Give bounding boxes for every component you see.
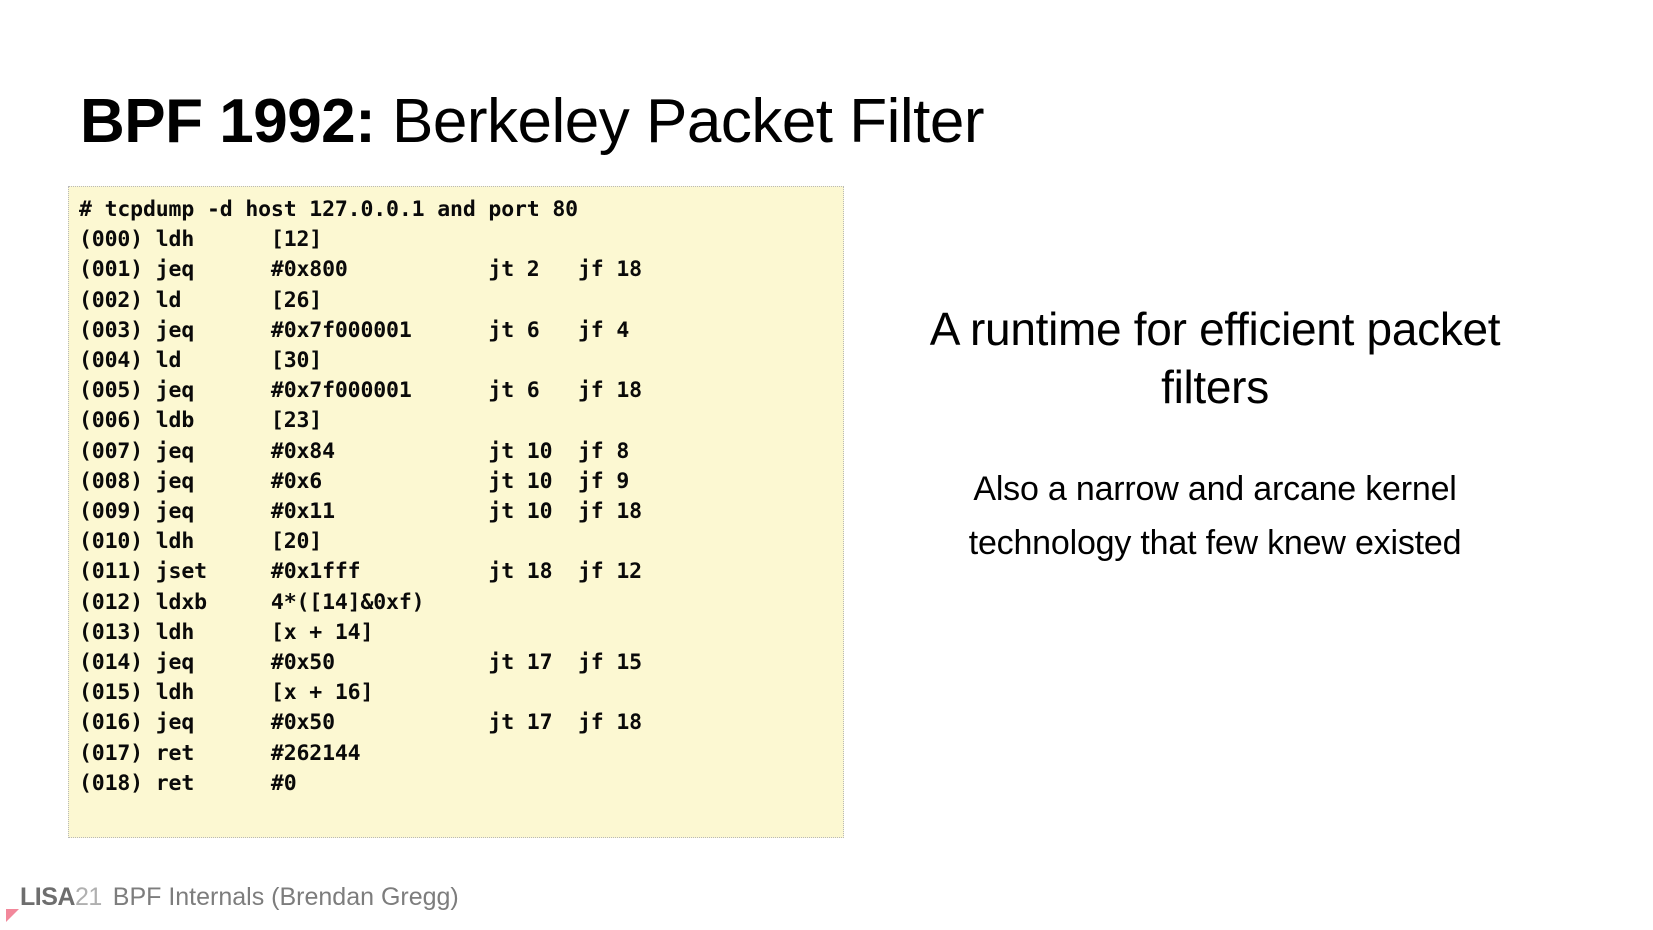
footer-subtitle: BPF Internals (Brendan Gregg) <box>113 882 459 912</box>
page-title-emphasis: BPF 1992: <box>80 87 375 156</box>
tcpdump-bpf-listing: # tcpdump -d host 127.0.0.1 and port 80 … <box>79 195 843 799</box>
page-title: BPF 1992: Berkeley Packet Filter <box>80 84 1530 160</box>
lead-statement: A runtime for efficient packet filters <box>905 300 1525 416</box>
right-text-column: A runtime for efficient packet filters A… <box>905 300 1525 570</box>
triangle-mark-icon <box>6 909 19 922</box>
footer-brand: LISA <box>20 882 75 912</box>
slide-canvas: BPF 1992: Berkeley Packet Filter # tcpdu… <box>0 0 1653 930</box>
sub-statement: Also a narrow and arcane kernel technolo… <box>905 462 1525 570</box>
page-title-remainder: Berkeley Packet Filter <box>375 87 984 156</box>
slide-footer: LISA21BPF Internals (Brendan Gregg) <box>20 882 459 912</box>
footer-year: 21 <box>75 882 102 912</box>
code-listing-panel: # tcpdump -d host 127.0.0.1 and port 80 … <box>68 186 844 838</box>
